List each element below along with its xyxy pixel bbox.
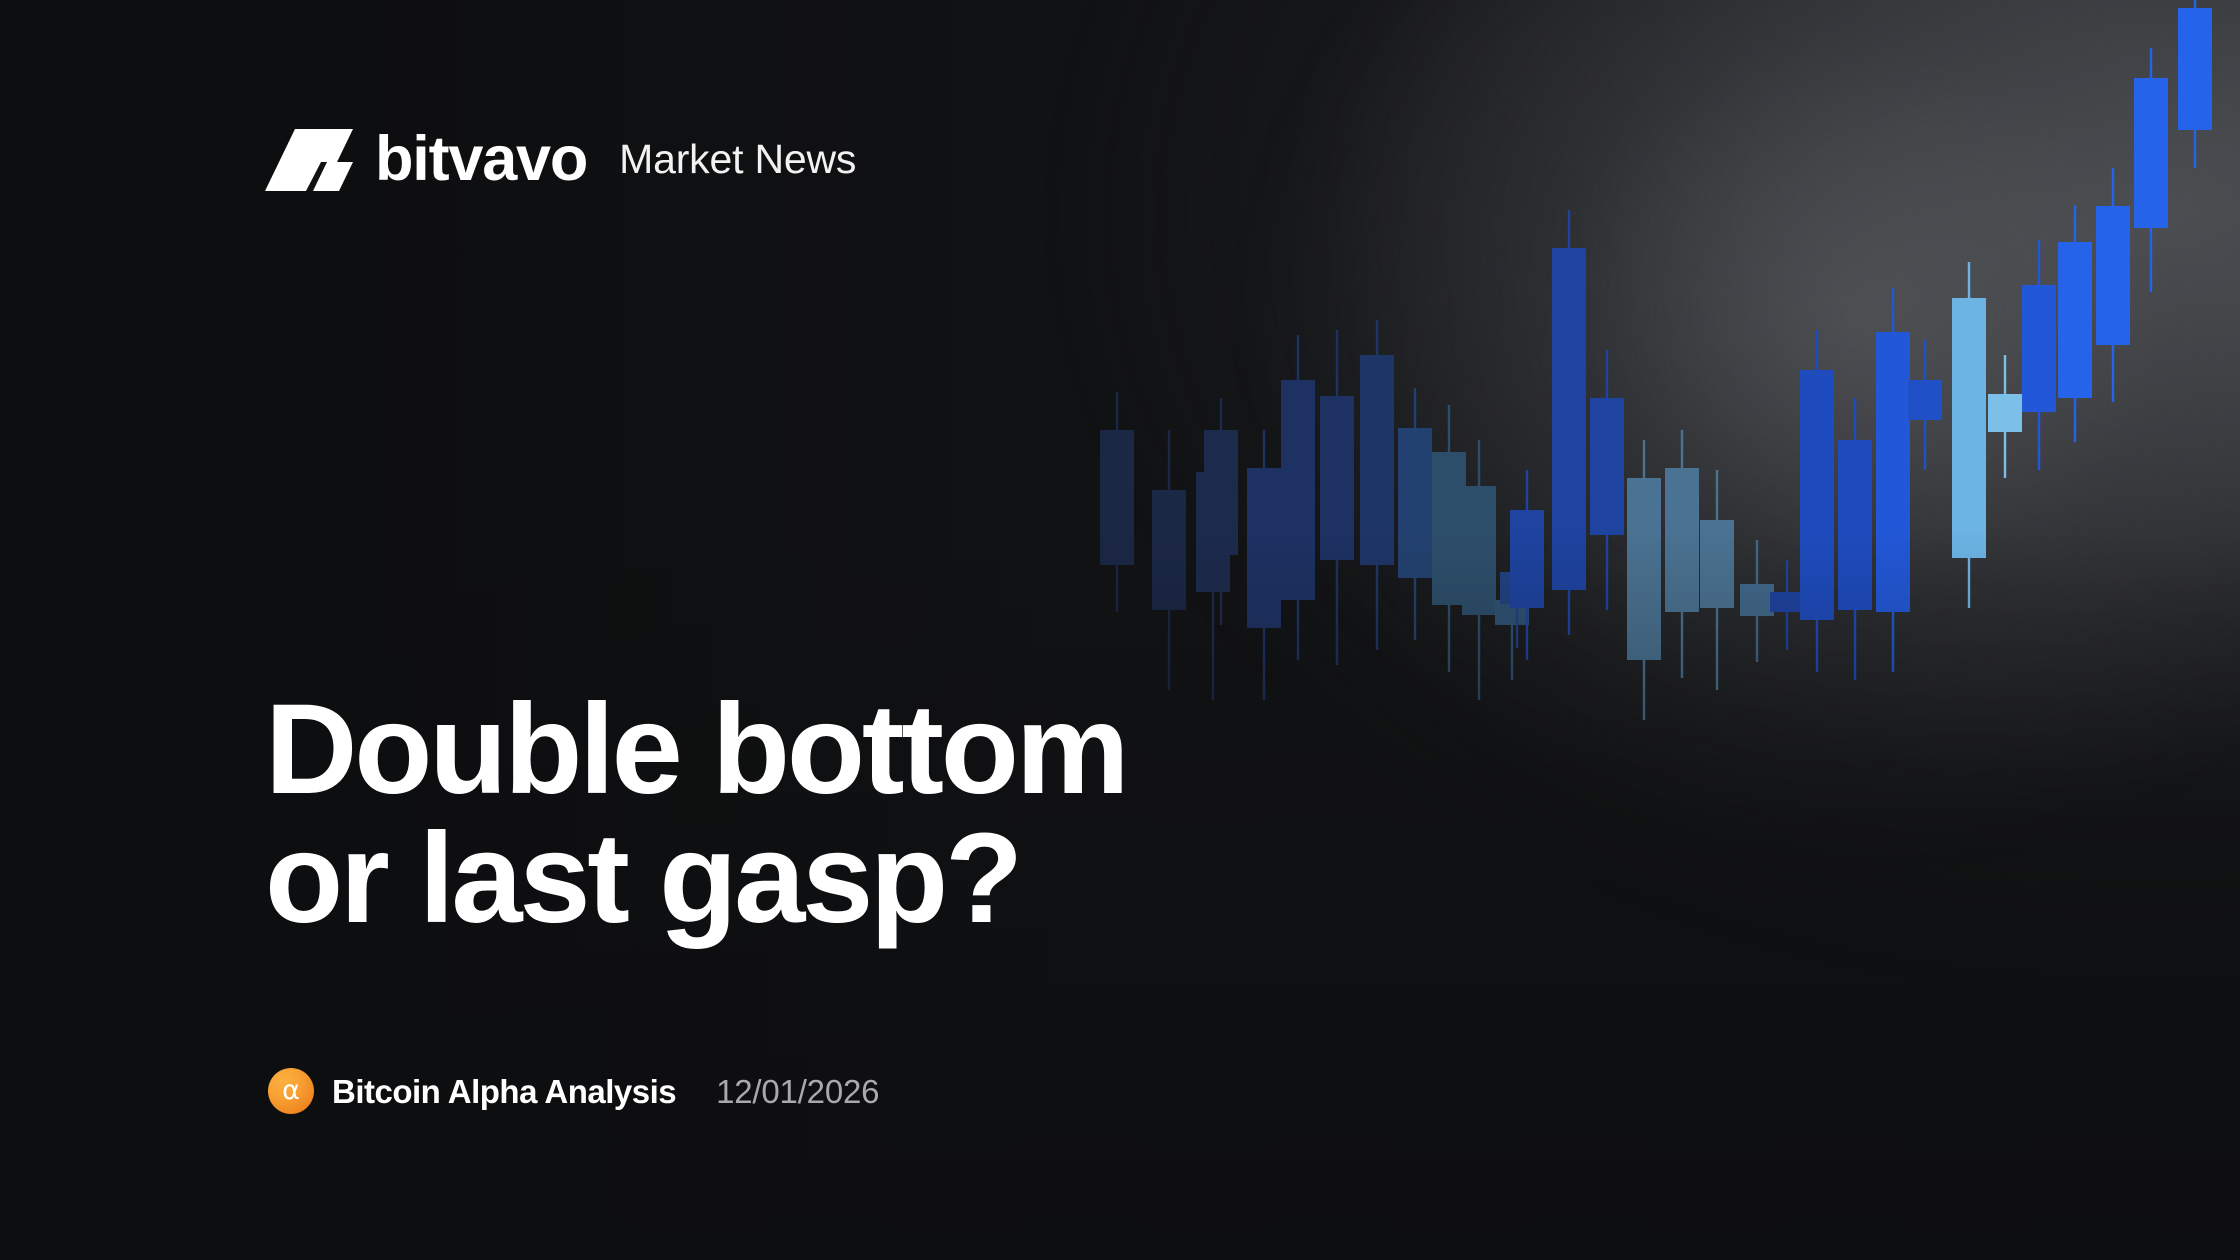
bitvavo-slash-logo-icon bbox=[265, 129, 353, 191]
market-news-banner: bitvavo Market News Double bottom or las… bbox=[0, 0, 2240, 1260]
byline-author: Bitcoin Alpha Analysis bbox=[332, 1075, 676, 1108]
banner-content: bitvavo Market News Double bottom or las… bbox=[0, 0, 2240, 1260]
headline-line-1: Double bottom bbox=[265, 685, 1126, 814]
byline-date: 12/01/2026 bbox=[716, 1075, 879, 1108]
alpha-badge-icon: α bbox=[268, 1068, 314, 1114]
page-title: Double bottom or last gasp? bbox=[265, 685, 1126, 944]
brand-bar: bitvavo Market News bbox=[265, 128, 856, 191]
headline-line-2: or last gasp? bbox=[265, 814, 1126, 943]
bitvavo-wordmark: bitvavo bbox=[375, 128, 587, 191]
byline: α Bitcoin Alpha Analysis 12/01/2026 bbox=[268, 1068, 879, 1114]
section-label: Market News bbox=[619, 139, 856, 180]
